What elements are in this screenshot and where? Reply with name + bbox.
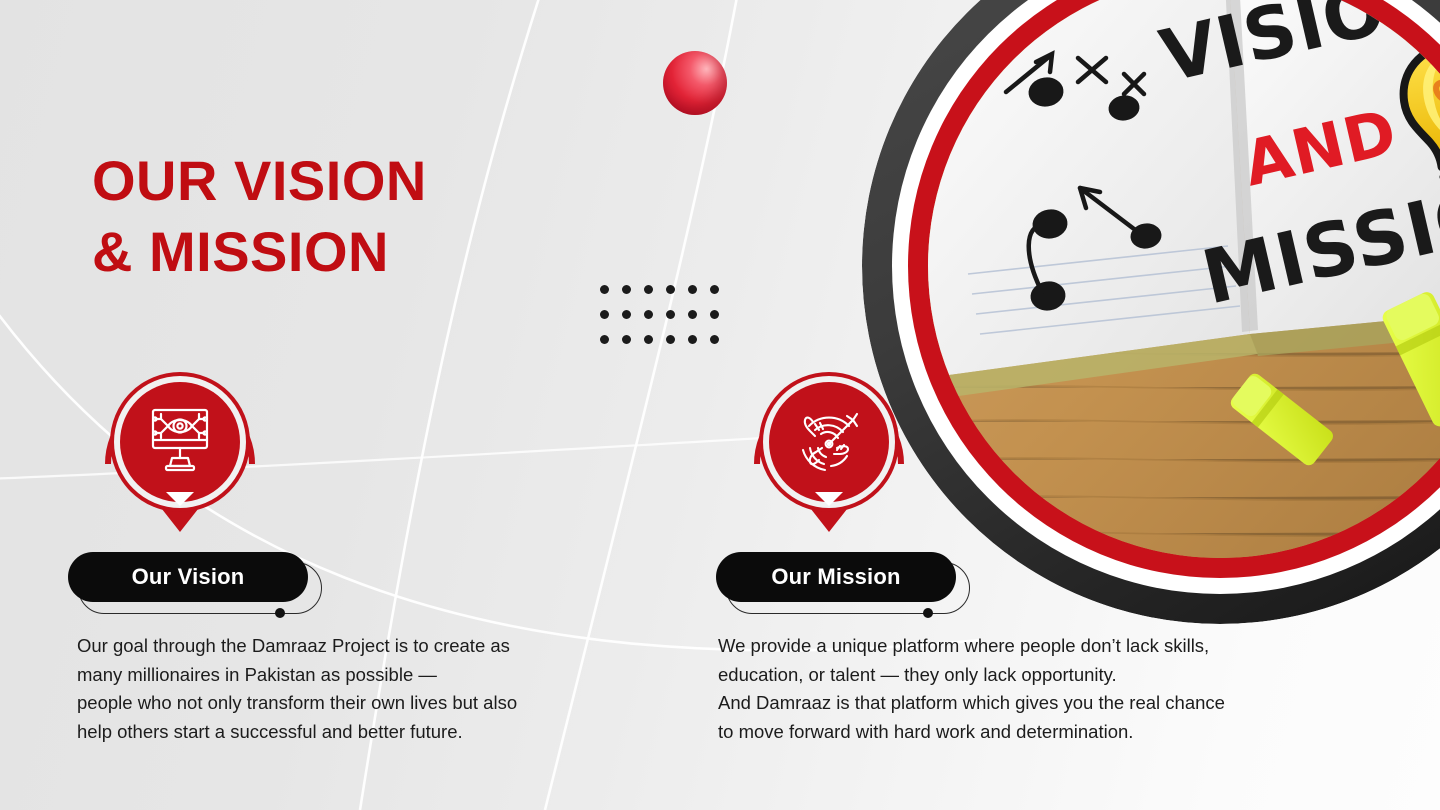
vision-line-2: many millionaires in Pakistan as possibl… — [77, 661, 677, 690]
dot-grid-decoration — [600, 285, 732, 360]
target-arrow-icon — [769, 382, 889, 502]
mission-line-1: We provide a unique platform where peopl… — [718, 632, 1358, 661]
title-line-1: OUR VISION — [92, 145, 652, 217]
vision-paragraph: Our goal through the Damraaz Project is … — [77, 632, 677, 746]
vision-line-3: people who not only transform their own … — [77, 689, 677, 718]
photo-circle-frame: VISION AND MISSION — [862, 0, 1440, 624]
mission-pin-marker — [751, 364, 907, 534]
notebook-photo: VISION AND MISSION — [928, 0, 1440, 558]
slide-vision-mission: OUR VISION & MISSION — [0, 0, 1440, 810]
page-title: OUR VISION & MISSION — [92, 145, 652, 288]
vision-line-1: Our goal through the Damraaz Project is … — [77, 632, 677, 661]
mission-paragraph: We provide a unique platform where peopl… — [718, 632, 1358, 746]
mission-line-2: education, or talent — they only lack op… — [718, 661, 1358, 690]
title-line-2: & MISSION — [92, 216, 652, 288]
vision-pin-marker — [102, 364, 258, 534]
vision-line-4: help others start a successful and bette… — [77, 718, 677, 747]
mission-line-3: And Damraaz is that platform which gives… — [718, 689, 1358, 718]
vision-label-dot — [275, 608, 285, 618]
red-sphere-decoration — [663, 51, 727, 115]
mission-label-dot — [923, 608, 933, 618]
vision-label-pill[interactable]: Our Vision — [68, 552, 308, 602]
mission-line-4: to move forward with hard work and deter… — [718, 718, 1358, 747]
mission-label-pill[interactable]: Our Mission — [716, 552, 956, 602]
monitor-eye-icon — [120, 382, 240, 502]
